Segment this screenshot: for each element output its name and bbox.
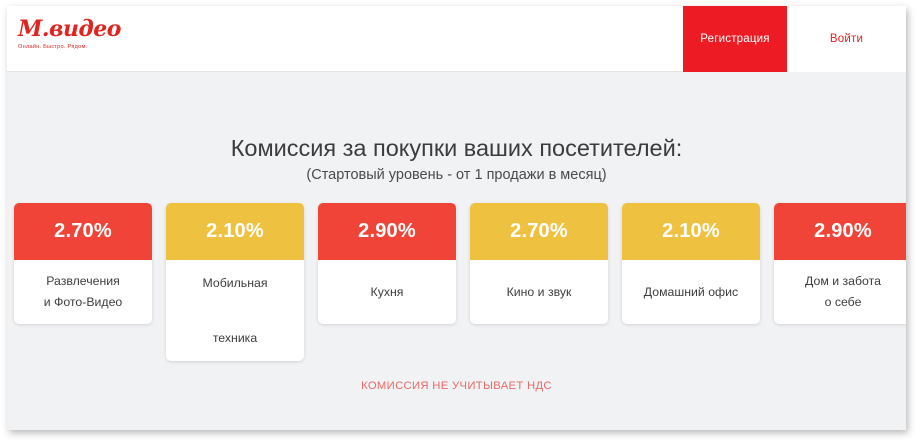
category-line-1: Домашний офис — [644, 282, 738, 303]
commission-rate-badge: 2.70% — [14, 203, 152, 260]
commission-rate-badge: 2.10% — [622, 203, 760, 260]
commission-category: Кино и звук — [470, 260, 608, 324]
category-line-2: и Фото-Видео — [44, 292, 123, 313]
category-line-1: Развлечения — [46, 271, 120, 292]
commission-card-list: 2.70% Развлечения и Фото-Видео 2.10% Моб… — [10, 203, 903, 373]
commission-card[interactable]: 2.10% Мобильная техника — [166, 203, 304, 361]
vat-footnote: КОМИССИЯ НЕ УЧИТЫВАЕТ НДС — [7, 380, 906, 392]
category-line-2: техника — [213, 311, 257, 362]
commission-category: Дом и забота о себе — [774, 260, 906, 324]
category-line-1: Кино и звук — [507, 282, 572, 303]
commission-category: Домашний офис — [622, 260, 760, 324]
commission-card[interactable]: 2.10% Домашний офис — [622, 203, 760, 324]
logo-wordmark: М.видео — [18, 17, 138, 41]
page-subtitle: (Стартовый уровень - от 1 продажи в меся… — [7, 165, 906, 185]
commission-card[interactable]: 2.70% Развлечения и Фото-Видео — [14, 203, 152, 324]
commission-category: Развлечения и Фото-Видео — [14, 260, 152, 324]
header-actions: Регистрация Войти — [683, 6, 906, 72]
page-title: Комиссия за покупки ваших посетителей: — [7, 134, 906, 162]
logo-tagline: Онлайн. Быстро. Рядом. — [18, 44, 138, 51]
commission-card[interactable]: 2.90% Кухня — [318, 203, 456, 324]
login-button[interactable]: Войти — [787, 6, 906, 72]
commission-card[interactable]: 2.70% Кино и звук — [470, 203, 608, 324]
commission-rate-badge: 2.90% — [774, 203, 906, 260]
category-line-1: Кухня — [371, 282, 404, 303]
commission-rate-badge: 2.10% — [166, 203, 304, 260]
category-line-1: Дом и забота — [805, 271, 881, 292]
commission-category: Кухня — [318, 260, 456, 324]
browser-window-frame: М.видео Онлайн. Быстро. Рядом. Регистрац… — [7, 6, 906, 430]
commission-category: Мобильная техника — [166, 260, 304, 361]
site-header: М.видео Онлайн. Быстро. Рядом. Регистрац… — [7, 6, 906, 72]
commission-card[interactable]: 2.90% Дом и забота о себе — [774, 203, 906, 324]
mvideo-logo[interactable]: М.видео Онлайн. Быстро. Рядом. — [18, 17, 138, 61]
commission-rate-badge: 2.90% — [318, 203, 456, 260]
category-line-2: о себе — [825, 292, 862, 313]
register-button[interactable]: Регистрация — [683, 6, 787, 72]
commission-section: Комиссия за покупки ваших посетителей: (… — [7, 72, 906, 430]
category-line-1: Мобильная — [202, 256, 267, 311]
commission-rate-badge: 2.70% — [470, 203, 608, 260]
